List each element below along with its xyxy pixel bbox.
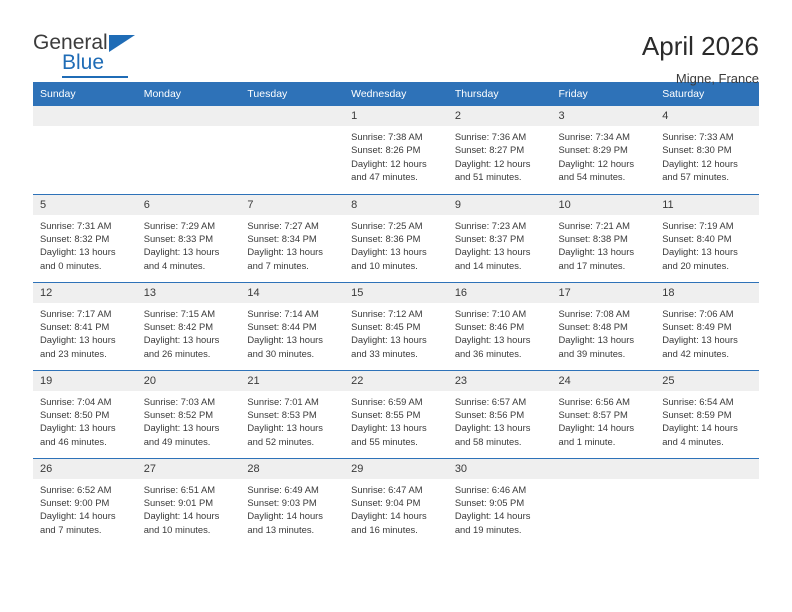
day-number: 7 <box>240 195 344 215</box>
sunrise-text: Sunrise: 7:03 AM <box>144 395 233 408</box>
blue-triangle-icon <box>109 35 135 52</box>
sunrise-text: Sunrise: 7:17 AM <box>40 307 129 320</box>
sunrise-text: Sunrise: 7:06 AM <box>662 307 751 320</box>
daylight-text: Daylight: 14 hours and 10 minutes. <box>144 509 233 536</box>
calendar-week-row: 5Sunrise: 7:31 AMSunset: 8:32 PMDaylight… <box>33 194 759 282</box>
sunrise-text: Sunrise: 6:49 AM <box>247 483 336 496</box>
daylight-text: Daylight: 13 hours and 23 minutes. <box>40 333 129 360</box>
sunset-text: Sunset: 8:41 PM <box>40 320 129 333</box>
sunrise-text: Sunrise: 7:08 AM <box>559 307 648 320</box>
logo-text-blue: Blue <box>62 52 104 73</box>
weekday-header-friday: Friday <box>552 82 656 106</box>
day-number: 9 <box>448 195 552 215</box>
day-details: Sunrise: 7:06 AMSunset: 8:49 PMDaylight:… <box>655 303 759 361</box>
sunrise-text: Sunrise: 7:14 AM <box>247 307 336 320</box>
day-number: 30 <box>448 459 552 479</box>
day-details: Sunrise: 7:08 AMSunset: 8:48 PMDaylight:… <box>552 303 656 361</box>
day-number: 22 <box>344 371 448 391</box>
logo-text-general: General <box>33 32 108 53</box>
calendar-day-cell-28[interactable]: 28Sunrise: 6:49 AMSunset: 9:03 PMDayligh… <box>240 458 344 546</box>
daylight-text: Daylight: 14 hours and 7 minutes. <box>40 509 129 536</box>
sunset-text: Sunset: 8:57 PM <box>559 408 648 421</box>
day-details: Sunrise: 7:14 AMSunset: 8:44 PMDaylight:… <box>240 303 344 361</box>
general-blue-logo[interactable]: General Blue <box>33 32 145 80</box>
day-details: Sunrise: 6:56 AMSunset: 8:57 PMDaylight:… <box>552 391 656 449</box>
calendar-day-cell-14[interactable]: 14Sunrise: 7:14 AMSunset: 8:44 PMDayligh… <box>240 282 344 370</box>
sunset-text: Sunset: 9:03 PM <box>247 496 336 509</box>
daylight-text: Daylight: 12 hours and 47 minutes. <box>351 157 440 184</box>
page-subtitle: Migne, France <box>642 71 759 86</box>
sunset-text: Sunset: 8:26 PM <box>351 143 440 156</box>
sunrise-text: Sunrise: 7:36 AM <box>455 130 544 143</box>
day-details: Sunrise: 7:29 AMSunset: 8:33 PMDaylight:… <box>137 215 241 273</box>
calendar-day-cell-11[interactable]: 11Sunrise: 7:19 AMSunset: 8:40 PMDayligh… <box>655 194 759 282</box>
day-number <box>240 106 344 126</box>
daylight-text: Daylight: 13 hours and 39 minutes. <box>559 333 648 360</box>
day-number: 12 <box>33 283 137 303</box>
weekday-header-monday: Monday <box>137 82 241 106</box>
daylight-text: Daylight: 14 hours and 16 minutes. <box>351 509 440 536</box>
sunrise-text: Sunrise: 6:57 AM <box>455 395 544 408</box>
day-details: Sunrise: 7:25 AMSunset: 8:36 PMDaylight:… <box>344 215 448 273</box>
calendar-day-cell-1[interactable]: 1Sunrise: 7:38 AMSunset: 8:26 PMDaylight… <box>344 106 448 194</box>
calendar-week-row: 19Sunrise: 7:04 AMSunset: 8:50 PMDayligh… <box>33 370 759 458</box>
calendar-day-cell-29[interactable]: 29Sunrise: 6:47 AMSunset: 9:04 PMDayligh… <box>344 458 448 546</box>
day-number <box>552 459 656 479</box>
daylight-text: Daylight: 13 hours and 36 minutes. <box>455 333 544 360</box>
calendar-day-cell-8[interactable]: 8Sunrise: 7:25 AMSunset: 8:36 PMDaylight… <box>344 194 448 282</box>
day-details: Sunrise: 7:38 AMSunset: 8:26 PMDaylight:… <box>344 126 448 184</box>
calendar-day-cell-empty <box>240 106 344 194</box>
calendar-day-cell-20[interactable]: 20Sunrise: 7:03 AMSunset: 8:52 PMDayligh… <box>137 370 241 458</box>
sunset-text: Sunset: 8:40 PM <box>662 232 751 245</box>
day-details: Sunrise: 6:51 AMSunset: 9:01 PMDaylight:… <box>137 479 241 537</box>
daylight-text: Daylight: 13 hours and 4 minutes. <box>144 245 233 272</box>
daylight-text: Daylight: 13 hours and 49 minutes. <box>144 421 233 448</box>
sunrise-text: Sunrise: 6:54 AM <box>662 395 751 408</box>
day-details: Sunrise: 7:01 AMSunset: 8:53 PMDaylight:… <box>240 391 344 449</box>
calendar-day-cell-empty <box>137 106 241 194</box>
sunrise-text: Sunrise: 7:33 AM <box>662 130 751 143</box>
day-number: 1 <box>344 106 448 126</box>
calendar-day-cell-16[interactable]: 16Sunrise: 7:10 AMSunset: 8:46 PMDayligh… <box>448 282 552 370</box>
sunrise-text: Sunrise: 7:27 AM <box>247 219 336 232</box>
sunrise-text: Sunrise: 7:21 AM <box>559 219 648 232</box>
sunset-text: Sunset: 8:36 PM <box>351 232 440 245</box>
daylight-text: Daylight: 13 hours and 52 minutes. <box>247 421 336 448</box>
sunset-text: Sunset: 9:05 PM <box>455 496 544 509</box>
title-block: April 2026 Migne, France <box>642 32 759 86</box>
daylight-text: Daylight: 13 hours and 42 minutes. <box>662 333 751 360</box>
calendar-day-cell-30[interactable]: 30Sunrise: 6:46 AMSunset: 9:05 PMDayligh… <box>448 458 552 546</box>
daylight-text: Daylight: 13 hours and 58 minutes. <box>455 421 544 448</box>
day-number: 20 <box>137 371 241 391</box>
calendar-day-cell-23[interactable]: 23Sunrise: 6:57 AMSunset: 8:56 PMDayligh… <box>448 370 552 458</box>
day-details: Sunrise: 7:36 AMSunset: 8:27 PMDaylight:… <box>448 126 552 184</box>
day-number: 3 <box>552 106 656 126</box>
day-details: Sunrise: 7:23 AMSunset: 8:37 PMDaylight:… <box>448 215 552 273</box>
daylight-text: Daylight: 14 hours and 1 minute. <box>559 421 648 448</box>
calendar-page: General Blue April 2026 Migne, France Su… <box>0 0 792 612</box>
daylight-text: Daylight: 14 hours and 13 minutes. <box>247 509 336 536</box>
calendar-body: 1Sunrise: 7:38 AMSunset: 8:26 PMDaylight… <box>33 106 759 546</box>
calendar-week-row: 12Sunrise: 7:17 AMSunset: 8:41 PMDayligh… <box>33 282 759 370</box>
sunrise-text: Sunrise: 6:47 AM <box>351 483 440 496</box>
day-number: 18 <box>655 283 759 303</box>
calendar-day-cell-22[interactable]: 22Sunrise: 6:59 AMSunset: 8:55 PMDayligh… <box>344 370 448 458</box>
calendar-table: SundayMondayTuesdayWednesdayThursdayFrid… <box>33 82 759 546</box>
calendar-day-cell-9[interactable]: 9Sunrise: 7:23 AMSunset: 8:37 PMDaylight… <box>448 194 552 282</box>
sunset-text: Sunset: 8:44 PM <box>247 320 336 333</box>
calendar-day-cell-3[interactable]: 3Sunrise: 7:34 AMSunset: 8:29 PMDaylight… <box>552 106 656 194</box>
weekday-header-thursday: Thursday <box>448 82 552 106</box>
sunrise-text: Sunrise: 7:19 AM <box>662 219 751 232</box>
logo-underline <box>62 76 128 78</box>
calendar-day-cell-empty <box>655 458 759 546</box>
calendar-header-row: SundayMondayTuesdayWednesdayThursdayFrid… <box>33 82 759 106</box>
sunrise-text: Sunrise: 6:51 AM <box>144 483 233 496</box>
sunset-text: Sunset: 9:00 PM <box>40 496 129 509</box>
day-number: 14 <box>240 283 344 303</box>
day-number: 13 <box>137 283 241 303</box>
day-number: 6 <box>137 195 241 215</box>
sunrise-text: Sunrise: 7:38 AM <box>351 130 440 143</box>
day-details: Sunrise: 7:19 AMSunset: 8:40 PMDaylight:… <box>655 215 759 273</box>
day-number: 21 <box>240 371 344 391</box>
day-details: Sunrise: 7:17 AMSunset: 8:41 PMDaylight:… <box>33 303 137 361</box>
day-number: 15 <box>344 283 448 303</box>
calendar-day-cell-25[interactable]: 25Sunrise: 6:54 AMSunset: 8:59 PMDayligh… <box>655 370 759 458</box>
daylight-text: Daylight: 13 hours and 46 minutes. <box>40 421 129 448</box>
daylight-text: Daylight: 13 hours and 20 minutes. <box>662 245 751 272</box>
weekday-header-row: SundayMondayTuesdayWednesdayThursdayFrid… <box>33 82 759 106</box>
daylight-text: Daylight: 13 hours and 33 minutes. <box>351 333 440 360</box>
day-number <box>137 106 241 126</box>
sunset-text: Sunset: 8:38 PM <box>559 232 648 245</box>
calendar-day-cell-24[interactable]: 24Sunrise: 6:56 AMSunset: 8:57 PMDayligh… <box>552 370 656 458</box>
daylight-text: Daylight: 13 hours and 10 minutes. <box>351 245 440 272</box>
day-details: Sunrise: 7:12 AMSunset: 8:45 PMDaylight:… <box>344 303 448 361</box>
day-details: Sunrise: 7:31 AMSunset: 8:32 PMDaylight:… <box>33 215 137 273</box>
day-number: 24 <box>552 371 656 391</box>
sunrise-text: Sunrise: 7:29 AM <box>144 219 233 232</box>
sunrise-text: Sunrise: 7:25 AM <box>351 219 440 232</box>
calendar-day-cell-7[interactable]: 7Sunrise: 7:27 AMSunset: 8:34 PMDaylight… <box>240 194 344 282</box>
day-details: Sunrise: 6:46 AMSunset: 9:05 PMDaylight:… <box>448 479 552 537</box>
daylight-text: Daylight: 13 hours and 17 minutes. <box>559 245 648 272</box>
day-number: 2 <box>448 106 552 126</box>
day-number: 4 <box>655 106 759 126</box>
calendar-day-cell-5[interactable]: 5Sunrise: 7:31 AMSunset: 8:32 PMDaylight… <box>33 194 137 282</box>
sunset-text: Sunset: 8:33 PM <box>144 232 233 245</box>
daylight-text: Daylight: 14 hours and 4 minutes. <box>662 421 751 448</box>
sunset-text: Sunset: 8:27 PM <box>455 143 544 156</box>
weekday-header-tuesday: Tuesday <box>240 82 344 106</box>
day-details: Sunrise: 6:54 AMSunset: 8:59 PMDaylight:… <box>655 391 759 449</box>
calendar-day-cell-12[interactable]: 12Sunrise: 7:17 AMSunset: 8:41 PMDayligh… <box>33 282 137 370</box>
day-details: Sunrise: 7:27 AMSunset: 8:34 PMDaylight:… <box>240 215 344 273</box>
sunset-text: Sunset: 8:48 PM <box>559 320 648 333</box>
calendar-week-row: 26Sunrise: 6:52 AMSunset: 9:00 PMDayligh… <box>33 458 759 546</box>
daylight-text: Daylight: 14 hours and 19 minutes. <box>455 509 544 536</box>
daylight-text: Daylight: 12 hours and 51 minutes. <box>455 157 544 184</box>
daylight-text: Daylight: 13 hours and 14 minutes. <box>455 245 544 272</box>
sunset-text: Sunset: 8:59 PM <box>662 408 751 421</box>
sunrise-text: Sunrise: 7:01 AM <box>247 395 336 408</box>
day-number <box>33 106 137 126</box>
sunset-text: Sunset: 8:50 PM <box>40 408 129 421</box>
calendar-day-cell-empty <box>552 458 656 546</box>
sunrise-text: Sunrise: 7:12 AM <box>351 307 440 320</box>
day-number: 8 <box>344 195 448 215</box>
sunset-text: Sunset: 8:45 PM <box>351 320 440 333</box>
sunrise-text: Sunrise: 7:31 AM <box>40 219 129 232</box>
daylight-text: Daylight: 13 hours and 0 minutes. <box>40 245 129 272</box>
sunrise-text: Sunrise: 6:52 AM <box>40 483 129 496</box>
day-number <box>655 459 759 479</box>
day-details: Sunrise: 6:49 AMSunset: 9:03 PMDaylight:… <box>240 479 344 537</box>
sunset-text: Sunset: 8:37 PM <box>455 232 544 245</box>
calendar-day-cell-27[interactable]: 27Sunrise: 6:51 AMSunset: 9:01 PMDayligh… <box>137 458 241 546</box>
calendar-week-row: 1Sunrise: 7:38 AMSunset: 8:26 PMDaylight… <box>33 106 759 194</box>
day-number: 19 <box>33 371 137 391</box>
calendar-day-cell-15[interactable]: 15Sunrise: 7:12 AMSunset: 8:45 PMDayligh… <box>344 282 448 370</box>
day-details: Sunrise: 6:59 AMSunset: 8:55 PMDaylight:… <box>344 391 448 449</box>
daylight-text: Daylight: 13 hours and 30 minutes. <box>247 333 336 360</box>
sunrise-text: Sunrise: 6:59 AM <box>351 395 440 408</box>
calendar-day-cell-13[interactable]: 13Sunrise: 7:15 AMSunset: 8:42 PMDayligh… <box>137 282 241 370</box>
day-number: 29 <box>344 459 448 479</box>
calendar-day-cell-empty <box>33 106 137 194</box>
calendar-day-cell-19[interactable]: 19Sunrise: 7:04 AMSunset: 8:50 PMDayligh… <box>33 370 137 458</box>
sunrise-text: Sunrise: 7:23 AM <box>455 219 544 232</box>
page-header: General Blue April 2026 Migne, France <box>33 0 759 72</box>
daylight-text: Daylight: 12 hours and 54 minutes. <box>559 157 648 184</box>
day-details: Sunrise: 6:52 AMSunset: 9:00 PMDaylight:… <box>33 479 137 537</box>
calendar-day-cell-18[interactable]: 18Sunrise: 7:06 AMSunset: 8:49 PMDayligh… <box>655 282 759 370</box>
calendar-day-cell-4[interactable]: 4Sunrise: 7:33 AMSunset: 8:30 PMDaylight… <box>655 106 759 194</box>
daylight-text: Daylight: 13 hours and 55 minutes. <box>351 421 440 448</box>
sunrise-text: Sunrise: 7:10 AM <box>455 307 544 320</box>
sunset-text: Sunset: 8:34 PM <box>247 232 336 245</box>
day-number: 16 <box>448 283 552 303</box>
day-number: 26 <box>33 459 137 479</box>
daylight-text: Daylight: 13 hours and 26 minutes. <box>144 333 233 360</box>
page-title: April 2026 <box>642 32 759 61</box>
day-number: 10 <box>552 195 656 215</box>
day-number: 25 <box>655 371 759 391</box>
sunset-text: Sunset: 8:52 PM <box>144 408 233 421</box>
day-number: 5 <box>33 195 137 215</box>
day-details: Sunrise: 7:33 AMSunset: 8:30 PMDaylight:… <box>655 126 759 184</box>
sunrise-text: Sunrise: 7:04 AM <box>40 395 129 408</box>
sunset-text: Sunset: 8:46 PM <box>455 320 544 333</box>
calendar-day-cell-2[interactable]: 2Sunrise: 7:36 AMSunset: 8:27 PMDaylight… <box>448 106 552 194</box>
sunset-text: Sunset: 8:32 PM <box>40 232 129 245</box>
calendar-day-cell-17[interactable]: 17Sunrise: 7:08 AMSunset: 8:48 PMDayligh… <box>552 282 656 370</box>
day-details: Sunrise: 7:21 AMSunset: 8:38 PMDaylight:… <box>552 215 656 273</box>
day-number: 28 <box>240 459 344 479</box>
calendar-day-cell-6[interactable]: 6Sunrise: 7:29 AMSunset: 8:33 PMDaylight… <box>137 194 241 282</box>
daylight-text: Daylight: 12 hours and 57 minutes. <box>662 157 751 184</box>
calendar-day-cell-21[interactable]: 21Sunrise: 7:01 AMSunset: 8:53 PMDayligh… <box>240 370 344 458</box>
sunrise-text: Sunrise: 7:34 AM <box>559 130 648 143</box>
day-details: Sunrise: 7:03 AMSunset: 8:52 PMDaylight:… <box>137 391 241 449</box>
calendar-day-cell-10[interactable]: 10Sunrise: 7:21 AMSunset: 8:38 PMDayligh… <box>552 194 656 282</box>
day-details: Sunrise: 7:04 AMSunset: 8:50 PMDaylight:… <box>33 391 137 449</box>
sunset-text: Sunset: 8:56 PM <box>455 408 544 421</box>
sunset-text: Sunset: 8:29 PM <box>559 143 648 156</box>
weekday-header-saturday: Saturday <box>655 82 759 106</box>
sunset-text: Sunset: 8:42 PM <box>144 320 233 333</box>
sunrise-text: Sunrise: 7:15 AM <box>144 307 233 320</box>
calendar-day-cell-26[interactable]: 26Sunrise: 6:52 AMSunset: 9:00 PMDayligh… <box>33 458 137 546</box>
day-number: 23 <box>448 371 552 391</box>
weekday-header-wednesday: Wednesday <box>344 82 448 106</box>
weekday-header-sunday: Sunday <box>33 82 137 106</box>
sunset-text: Sunset: 8:53 PM <box>247 408 336 421</box>
day-details: Sunrise: 7:15 AMSunset: 8:42 PMDaylight:… <box>137 303 241 361</box>
sunset-text: Sunset: 9:01 PM <box>144 496 233 509</box>
day-details: Sunrise: 6:47 AMSunset: 9:04 PMDaylight:… <box>344 479 448 537</box>
sunset-text: Sunset: 8:49 PM <box>662 320 751 333</box>
daylight-text: Daylight: 13 hours and 7 minutes. <box>247 245 336 272</box>
day-number: 11 <box>655 195 759 215</box>
sunrise-text: Sunrise: 6:56 AM <box>559 395 648 408</box>
sunset-text: Sunset: 8:55 PM <box>351 408 440 421</box>
sunset-text: Sunset: 8:30 PM <box>662 143 751 156</box>
day-details: Sunrise: 6:57 AMSunset: 8:56 PMDaylight:… <box>448 391 552 449</box>
day-details: Sunrise: 7:10 AMSunset: 8:46 PMDaylight:… <box>448 303 552 361</box>
sunrise-text: Sunrise: 6:46 AM <box>455 483 544 496</box>
day-number: 17 <box>552 283 656 303</box>
day-details: Sunrise: 7:34 AMSunset: 8:29 PMDaylight:… <box>552 126 656 184</box>
sunset-text: Sunset: 9:04 PM <box>351 496 440 509</box>
day-number: 27 <box>137 459 241 479</box>
